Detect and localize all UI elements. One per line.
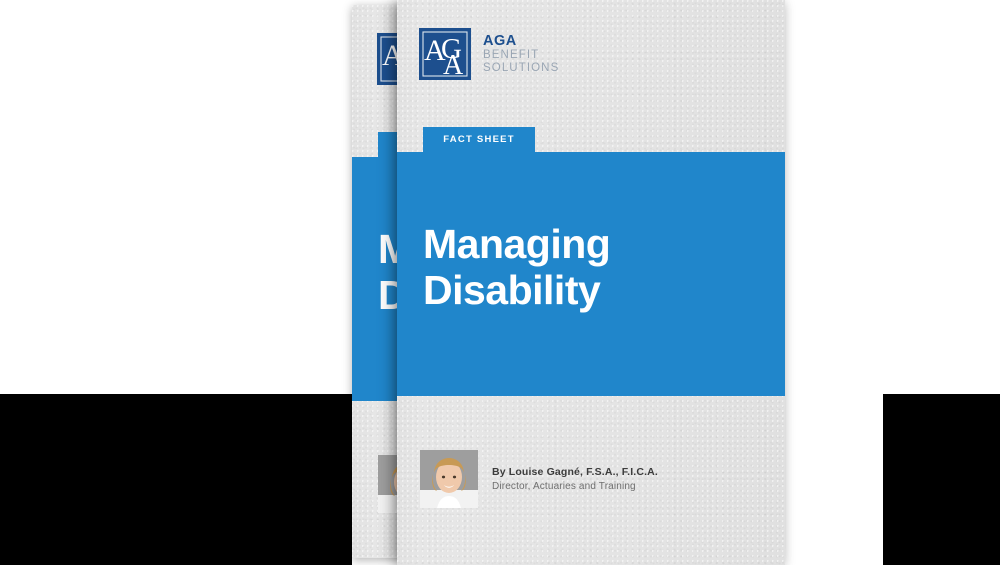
author-block: By Louise Gagné, F.S.A., F.I.C.A. Direct… — [420, 450, 658, 508]
fact-sheet-tab: FACT SHEET — [423, 127, 535, 152]
document-title: Managing Disability — [423, 222, 610, 314]
author-meta: By Louise Gagné, F.S.A., F.I.C.A. Direct… — [492, 466, 658, 492]
author-title: Director, Actuaries and Training — [492, 481, 658, 492]
aga-logo-icon: A G A — [419, 28, 471, 80]
backdrop-block-left — [0, 394, 352, 565]
author-avatar — [420, 450, 478, 508]
backdrop-block-right — [883, 394, 1000, 565]
brand-line-1: AGA — [483, 34, 559, 50]
author-name: By Louise Gagné, F.S.A., F.I.C.A. — [492, 466, 658, 478]
brand-line-3: SOLUTIONS — [483, 62, 559, 74]
svg-text:A: A — [443, 50, 464, 80]
brand-logo: A G A AGA BENEFIT SOLUTIONS — [419, 28, 559, 80]
brand-wordmark: AGA BENEFIT SOLUTIONS — [483, 34, 559, 74]
title-line-2: Disability — [423, 268, 610, 314]
title-line-1: Managing — [423, 222, 610, 268]
document-sheet-front[interactable]: A G A AGA BENEFIT SOLUTIONS FACT SHEET M… — [397, 0, 785, 565]
brand-line-2: BENEFIT — [483, 49, 559, 61]
